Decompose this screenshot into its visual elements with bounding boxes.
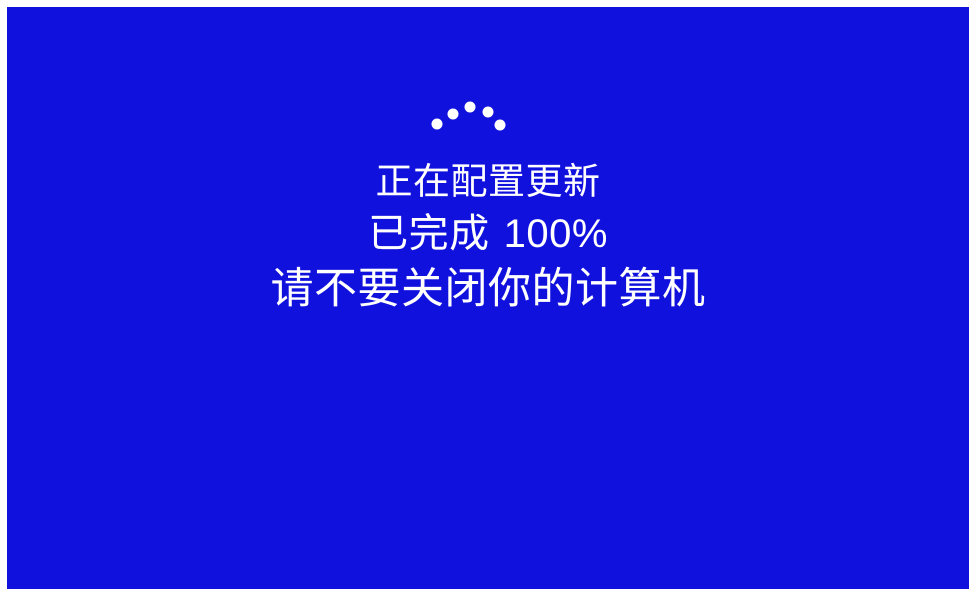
update-screen: 正在配置更新 已完成100% 请不要关闭你的计算机 [7,7,969,589]
spinner-dot-3 [465,102,476,113]
progress-line: 已完成100% [7,207,969,261]
progress-label: 已完成 [368,212,490,256]
configuring-update-text: 正在配置更新 [7,157,969,207]
spinner-dot-4 [483,107,494,118]
spinner-dot-2 [448,109,459,120]
progress-percent: 100% [504,212,608,256]
do-not-power-off-warning-text: 请不要关闭你的计算机 [7,261,969,317]
loading-dots-spinner [7,95,969,141]
spinner-dot-5 [495,120,506,131]
update-message-block: 正在配置更新 已完成100% 请不要关闭你的计算机 [7,157,969,317]
spinner-dot-1 [432,119,443,130]
